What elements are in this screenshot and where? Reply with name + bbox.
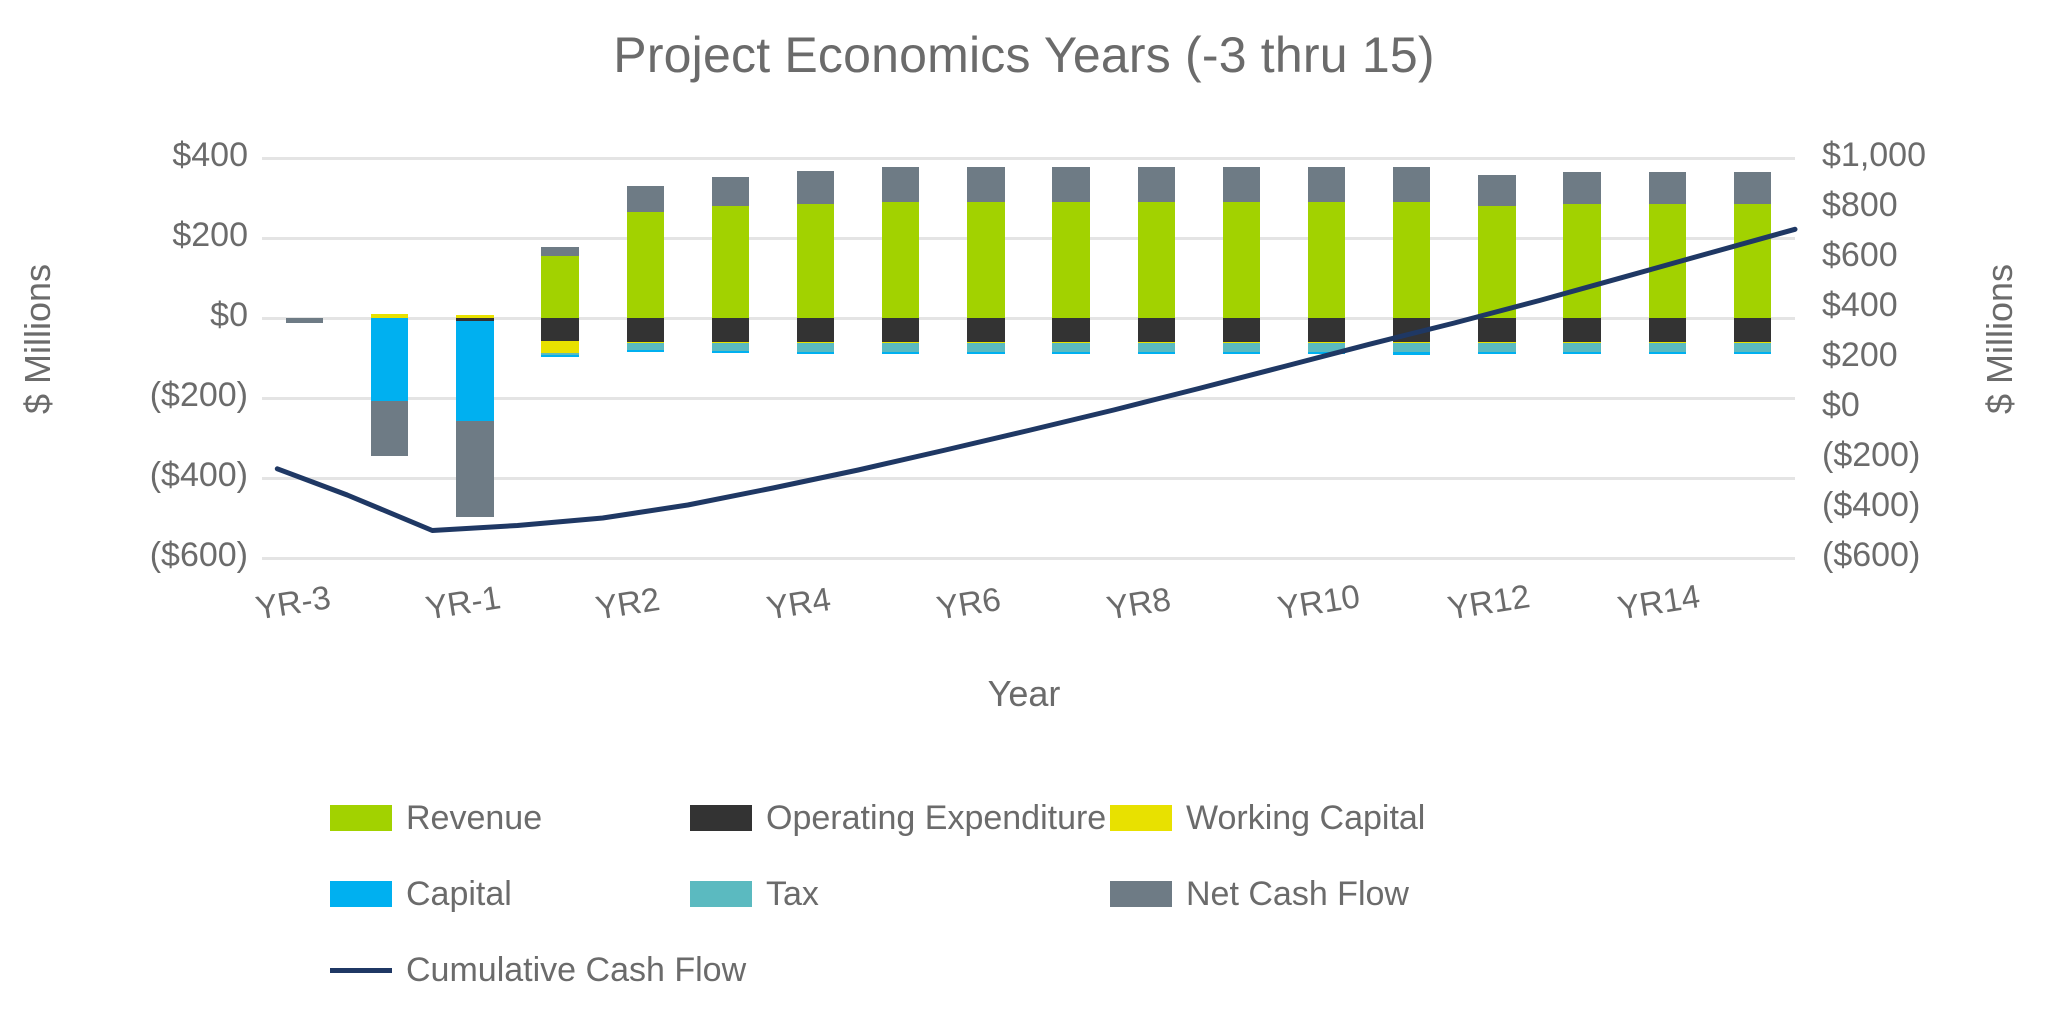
bar-segment-revenue [1734,204,1771,318]
bar-segment-operating-expenditure [882,318,919,342]
legend-item-cumulative-cash-flow[interactable]: Cumulative Cash Flow [330,951,690,990]
legend-label: Net Cash Flow [1186,875,1409,914]
bar-segment-capital [967,352,1004,354]
bar-segment-tax [882,343,919,352]
bar-segment-operating-expenditure [797,318,834,342]
bar-segment-capital [1393,352,1430,355]
secondary-y-axis-tick-label: ($600) [1822,538,2048,572]
bar-segment-net-cash-flow [797,171,834,204]
bar-segment-tax [712,343,749,351]
gridline [262,557,1795,560]
x-axis-tick-label: YR14 [1615,577,1702,627]
legend-item-net-cash-flow[interactable]: Net Cash Flow [1110,875,1510,914]
x-axis-tick-label: YR12 [1445,577,1532,627]
bar-segment-net-cash-flow [1138,167,1175,202]
bar-segment-capital [1649,352,1686,354]
bar-segment-revenue [627,212,664,318]
bar-segment-operating-expenditure [967,318,1004,342]
bar-segment-revenue [712,206,749,318]
bar-segment-tax [1563,343,1600,352]
secondary-y-axis-tick-label: ($200) [1822,438,2048,472]
bar-segment-net-cash-flow [1649,172,1686,204]
legend-row: RevenueOperating ExpenditureWorking Capi… [330,780,1630,856]
bar-segment-net-cash-flow [1308,167,1345,202]
x-axis-tick-label: YR-3 [253,578,333,627]
secondary-y-axis-tick-label: $1,000 [1822,138,2048,172]
bar-segment-net-cash-flow [1052,167,1089,202]
gridline [262,157,1795,160]
bar-segment-operating-expenditure [1734,318,1771,342]
bar-segment-operating-expenditure [1478,318,1515,342]
legend-label: Working Capital [1186,799,1425,838]
legend-swatch-icon [690,881,752,907]
legend-swatch-icon [330,805,392,831]
bar-segment-net-cash-flow [1563,172,1600,204]
bar-segment-operating-expenditure [1308,318,1345,342]
bar-segment-tax [1734,343,1771,352]
secondary-y-axis-tick-label: $400 [1822,288,2048,322]
y-axis-tick-label: ($400) [0,458,248,492]
bar-segment-net-cash-flow [1223,167,1260,202]
bar-segment-net-cash-flow [456,421,493,517]
bar-segment-revenue [1393,202,1430,318]
bar-segment-net-cash-flow [541,247,578,256]
legend-item-working-capital[interactable]: Working Capital [1110,799,1510,838]
bar-segment-operating-expenditure [1649,318,1686,342]
bar-segment-tax [1649,343,1686,352]
bar-segment-capital [1308,352,1345,354]
bar-segment-tax [967,343,1004,352]
bar-segment-net-cash-flow [712,177,749,206]
bar-segment-tax [1308,343,1345,352]
bar-segment-tax [1052,343,1089,352]
bar-segment-revenue [882,202,919,318]
bar-segment-net-cash-flow [627,186,664,212]
bar-segment-revenue [1138,202,1175,318]
chart-legend: RevenueOperating ExpenditureWorking Capi… [330,780,1630,1008]
legend-line-icon [330,968,392,973]
bar-segment-revenue [1563,204,1600,318]
x-axis-tick-label: YR8 [1104,580,1173,628]
bar-segment-tax [797,343,834,352]
legend-swatch-icon [1110,881,1172,907]
legend-item-capital[interactable]: Capital [330,875,690,914]
legend-label: Tax [766,875,819,914]
bar-segment-net-cash-flow [1478,175,1515,206]
x-axis-tick-label: YR6 [934,580,1003,628]
bar-segment-revenue [967,202,1004,318]
legend-label: Capital [406,875,512,914]
legend-row: Cumulative Cash Flow [330,932,1630,1008]
bar-segment-capital [456,321,493,421]
bar-segment-net-cash-flow [882,167,919,202]
legend-swatch-icon [330,881,392,907]
legend-label: Cumulative Cash Flow [406,951,746,990]
y-axis-tick-label: $400 [0,138,248,172]
x-axis-tick-label: YR10 [1275,577,1362,627]
legend-swatch-icon [1110,805,1172,831]
bar-segment-capital [627,350,664,352]
bar-segment-net-cash-flow [286,318,323,323]
bar-segment-revenue [1649,204,1686,318]
bar-segment-tax [1393,343,1430,352]
bar-segment-operating-expenditure [1563,318,1600,342]
bar-segment-tax [627,343,664,350]
bar-segment-revenue [1223,202,1260,318]
bar-segment-operating-expenditure [1138,318,1175,342]
bar-segment-operating-expenditure [1052,318,1089,342]
legend-label: Operating Expenditure [766,799,1106,838]
secondary-y-axis-tick-label: $600 [1822,238,2048,272]
bar-segment-capital [712,351,749,353]
chart-title: Project Economics Years (-3 thru 15) [0,26,2048,84]
bar-segment-net-cash-flow [967,167,1004,202]
secondary-y-axis-tick-label: $0 [1822,388,2048,422]
bar-segment-capital [1138,352,1175,354]
bar-segment-tax [1478,343,1515,352]
bar-segment-capital [541,355,578,357]
secondary-y-axis-tick-label: $200 [1822,338,2048,372]
bar-segment-operating-expenditure [712,318,749,342]
bar-segment-operating-expenditure [1223,318,1260,342]
bar-segment-tax [1223,343,1260,352]
bar-segment-capital [1223,352,1260,354]
bar-segment-revenue [1308,202,1345,318]
bar-segment-capital [797,352,834,354]
legend-label: Revenue [406,799,542,838]
bar-segment-tax [1138,343,1175,352]
secondary-y-axis-tick-label: $800 [1822,188,2048,222]
legend-item-revenue[interactable]: Revenue [330,799,690,838]
bar-segment-capital [1052,352,1089,354]
bar-segment-capital [371,318,408,401]
x-axis-tick-label: YR2 [593,580,662,628]
bar-segment-capital [882,352,919,354]
x-axis-title: Year [0,673,2048,715]
secondary-y-axis-tick-label: ($400) [1822,488,2048,522]
bar-segment-capital [1734,352,1771,354]
bar-segment-net-cash-flow [371,401,408,456]
bar-segment-capital [1478,352,1515,354]
bar-segment-revenue [1052,202,1089,318]
bar-segment-revenue [541,256,578,318]
bar-segment-revenue [1478,206,1515,318]
bar-segment-working-capital [541,341,578,353]
legend-row: CapitalTaxNet Cash Flow [330,856,1630,932]
legend-item-tax[interactable]: Tax [690,875,1110,914]
chart-container: Project Economics Years (-3 thru 15) $ M… [0,0,2048,1013]
bar-segment-net-cash-flow [1734,172,1771,204]
bar-segment-net-cash-flow [1393,167,1430,202]
y-axis-tick-label: $0 [0,298,248,332]
y-axis-tick-label: $200 [0,218,248,252]
x-axis-tick-label: YR-1 [423,578,503,627]
y-axis-tick-label: ($600) [0,538,248,572]
bar-segment-operating-expenditure [627,318,664,342]
plot-area [262,158,1795,558]
bar-segment-operating-expenditure [1393,318,1430,342]
x-axis-tick-label: YR4 [764,580,833,628]
bar-segment-operating-expenditure [541,318,578,341]
bar-segment-capital [1563,352,1600,354]
bar-segment-revenue [797,204,834,318]
y-axis-tick-label: ($200) [0,378,248,412]
legend-item-operating-expenditure[interactable]: Operating Expenditure [690,799,1110,838]
legend-swatch-icon [690,805,752,831]
